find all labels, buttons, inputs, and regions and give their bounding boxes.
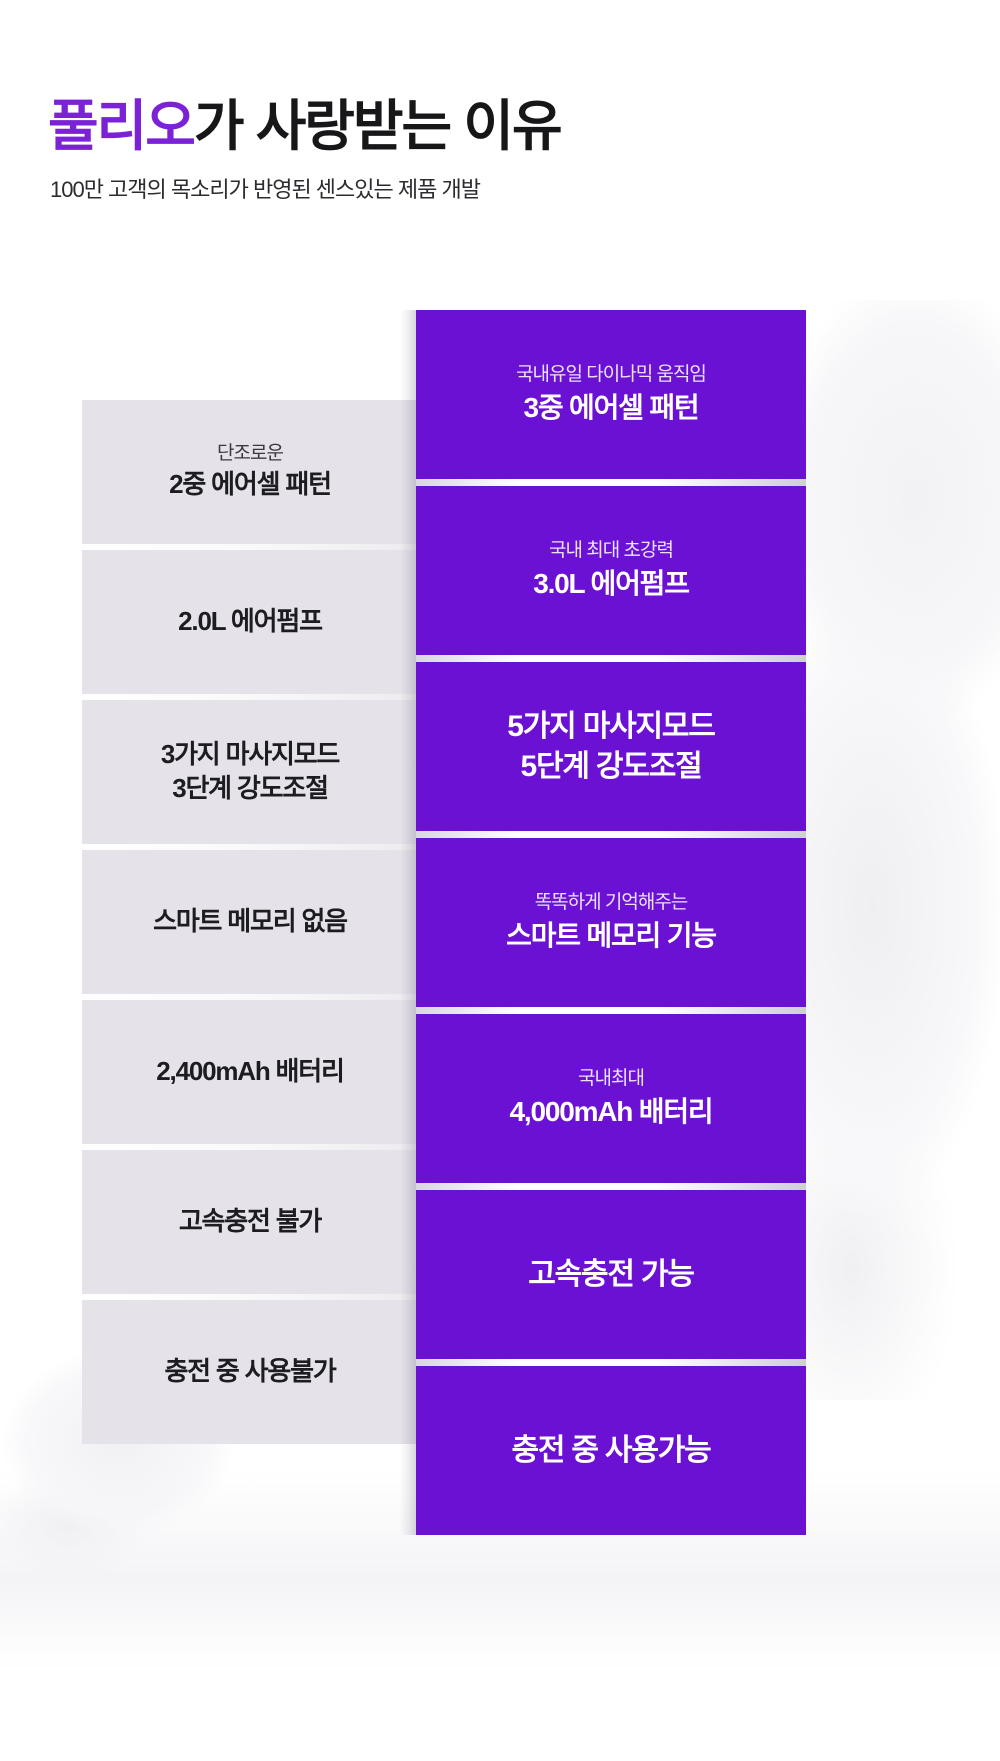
comparison-cell-headline-line2: 5단계 강도조절 — [507, 747, 714, 787]
comparison-cell-right: 고속충전 가능 — [416, 1190, 806, 1359]
comparison-cell-right: 국내 최대 초강력3.0L 에어펌프 — [416, 486, 806, 655]
comparison-cell-headline: 충전 중 사용가능 — [511, 1431, 710, 1471]
comparison-cell-headline-line1: 3중 에어셀 패턴 — [524, 390, 699, 426]
comparison-cell-eyebrow: 똑똑하게 기억해주는 — [535, 891, 688, 915]
comparison-cell-right: 5가지 마사지모드5단계 강도조절 — [416, 662, 806, 831]
comparison-cell-left: 2,400mAh 배터리 — [82, 1000, 418, 1144]
comparison-cell-eyebrow: 국내 최대 초강력 — [549, 539, 673, 563]
comparison-column-pulleo: 국내유일 다이나믹 움직임3중 에어셀 패턴국내 최대 초강력3.0L 에어펌프… — [416, 310, 806, 1535]
comparison-cell-left: 충전 중 사용불가 — [82, 1300, 418, 1444]
comparison-cell-left: 고속충전 불가 — [82, 1150, 418, 1294]
comparison-cell-headline-line1: 5가지 마사지모드 — [507, 707, 714, 747]
comparison-cell-headline-line1: 고속충전 가능 — [528, 1255, 694, 1295]
comparison-cell-headline-line1: 2.0L 에어펌프 — [178, 605, 322, 639]
comparison-table: 단조로운2중 에어셀 패턴2.0L 에어펌프3가지 마사지모드3단계 강도조절스… — [0, 0, 1000, 1761]
comparison-cell-headline-line2: 3단계 강도조절 — [161, 772, 339, 806]
comparison-cell-headline: 3.0L 에어펌프 — [533, 566, 689, 602]
comparison-cell-headline: 고속충전 불가 — [179, 1205, 321, 1239]
page-title: 풀리오가 사랑받는 이유 — [48, 96, 561, 158]
infographic-page: 풀리오가 사랑받는 이유 100만 고객의 목소리가 반영된 센스있는 제품 개… — [0, 0, 1000, 1761]
comparison-cell-headline-line1: 스마트 메모리 기능 — [506, 918, 716, 954]
comparison-cell-headline: 2중 에어셀 패턴 — [169, 468, 331, 502]
comparison-cell-headline: 3중 에어셀 패턴 — [524, 390, 699, 426]
comparison-cell-headline: 스마트 메모리 기능 — [506, 918, 716, 954]
comparison-cell-left: 2.0L 에어펌프 — [82, 550, 418, 694]
comparison-cell-right: 국내유일 다이나믹 움직임3중 에어셀 패턴 — [416, 310, 806, 479]
comparison-cell-headline: 5가지 마사지모드5단계 강도조절 — [507, 707, 714, 786]
page-header: 풀리오가 사랑받는 이유 100만 고객의 목소리가 반영된 센스있는 제품 개… — [48, 96, 561, 204]
comparison-cell-eyebrow: 국내유일 다이나믹 움직임 — [516, 363, 706, 387]
comparison-cell-headline-line1: 4,000mAh 배터리 — [510, 1094, 713, 1130]
comparison-cell-right: 충전 중 사용가능 — [416, 1366, 806, 1535]
comparison-cell-headline: 2.0L 에어펌프 — [178, 605, 322, 639]
comparison-cell-headline-line1: 2,400mAh 배터리 — [156, 1055, 343, 1089]
comparison-cell-headline-line1: 고속충전 불가 — [179, 1205, 321, 1239]
comparison-cell-headline-line1: 2중 에어셀 패턴 — [169, 468, 331, 502]
comparison-cell-left: 3가지 마사지모드3단계 강도조절 — [82, 700, 418, 844]
comparison-cell-right: 똑똑하게 기억해주는스마트 메모리 기능 — [416, 838, 806, 1007]
comparison-cell-eyebrow: 단조로운 — [217, 442, 283, 466]
comparison-cell-headline-line1: 3가지 마사지모드 — [161, 738, 339, 772]
comparison-column-competitor: 단조로운2중 에어셀 패턴2.0L 에어펌프3가지 마사지모드3단계 강도조절스… — [82, 400, 418, 1444]
comparison-cell-headline: 2,400mAh 배터리 — [156, 1055, 343, 1089]
comparison-cell-headline-line1: 충전 중 사용불가 — [164, 1355, 335, 1389]
comparison-cell-eyebrow: 국내최대 — [578, 1067, 644, 1091]
comparison-cell-headline: 4,000mAh 배터리 — [510, 1094, 713, 1130]
comparison-cell-headline: 스마트 메모리 없음 — [153, 905, 347, 939]
comparison-cell-headline: 고속충전 가능 — [528, 1255, 694, 1295]
comparison-cell-right: 국내최대4,000mAh 배터리 — [416, 1014, 806, 1183]
comparison-cell-left: 스마트 메모리 없음 — [82, 850, 418, 994]
page-title-rest: 가 사랑받는 이유 — [194, 95, 561, 157]
comparison-cell-headline-line1: 충전 중 사용가능 — [511, 1431, 710, 1471]
comparison-cell-headline: 3가지 마사지모드3단계 강도조절 — [161, 738, 339, 806]
comparison-cell-headline: 충전 중 사용불가 — [164, 1355, 335, 1389]
page-title-brand: 풀리오 — [48, 95, 194, 157]
comparison-cell-left: 단조로운2중 에어셀 패턴 — [82, 400, 418, 544]
comparison-cell-headline-line1: 3.0L 에어펌프 — [533, 566, 689, 602]
comparison-cell-headline-line1: 스마트 메모리 없음 — [153, 905, 347, 939]
page-subtitle: 100만 고객의 목소리가 반영된 센스있는 제품 개발 — [50, 172, 561, 204]
